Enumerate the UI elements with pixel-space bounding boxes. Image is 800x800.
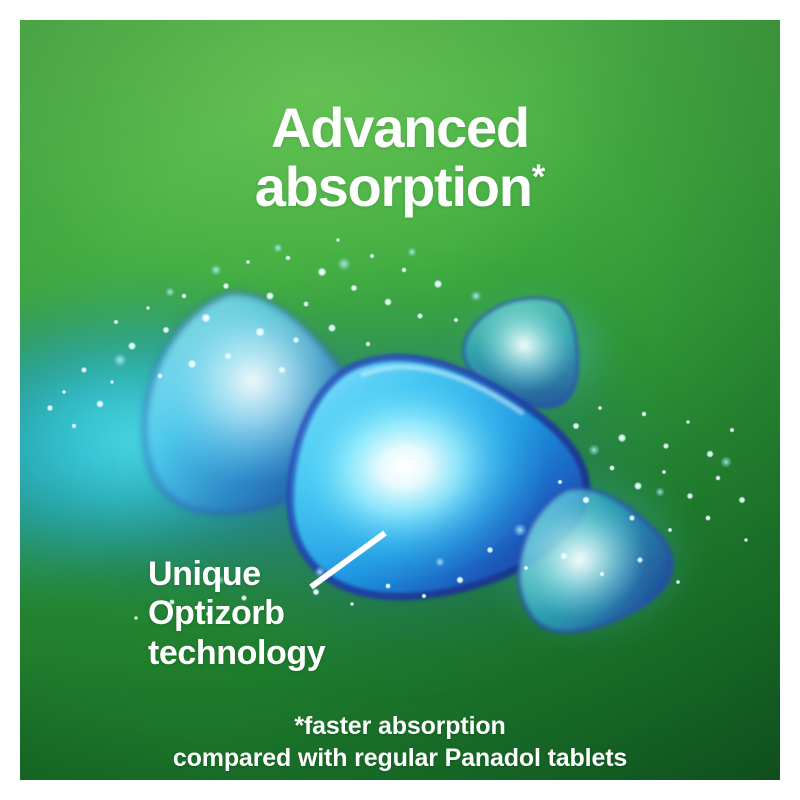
small-tablet-upper-right	[457, 288, 607, 413]
callout-text: Unique Optizorb technology	[148, 555, 448, 673]
headline-line-2-text: absorption	[255, 155, 532, 218]
headline-line-1: Advanced	[20, 98, 780, 157]
headline-line-2: absorption*	[20, 157, 780, 216]
ad-canvas: Advanced absorption* Unique Optizorb tec…	[0, 0, 800, 800]
dissolving-tablet	[110, 275, 400, 535]
footnote-line-2: compared with regular Panadol tablets	[20, 742, 780, 774]
callout-line-1: Unique	[148, 555, 448, 594]
footnote-text: *faster absorption compared with regular…	[20, 710, 780, 774]
footnote-line-1: *faster absorption	[20, 710, 780, 742]
glow-lower-right-tablet	[490, 470, 700, 645]
product-artwork: Advanced absorption* Unique Optizorb tec…	[20, 20, 780, 780]
small-tablet-lower-right	[498, 475, 688, 640]
callout-line-2: Optizorb	[148, 594, 448, 633]
headline-asterisk: *	[532, 158, 546, 196]
headline: Advanced absorption*	[20, 98, 780, 217]
glow-upper-right-tablet	[450, 285, 620, 415]
callout-line-3: technology	[148, 634, 448, 673]
